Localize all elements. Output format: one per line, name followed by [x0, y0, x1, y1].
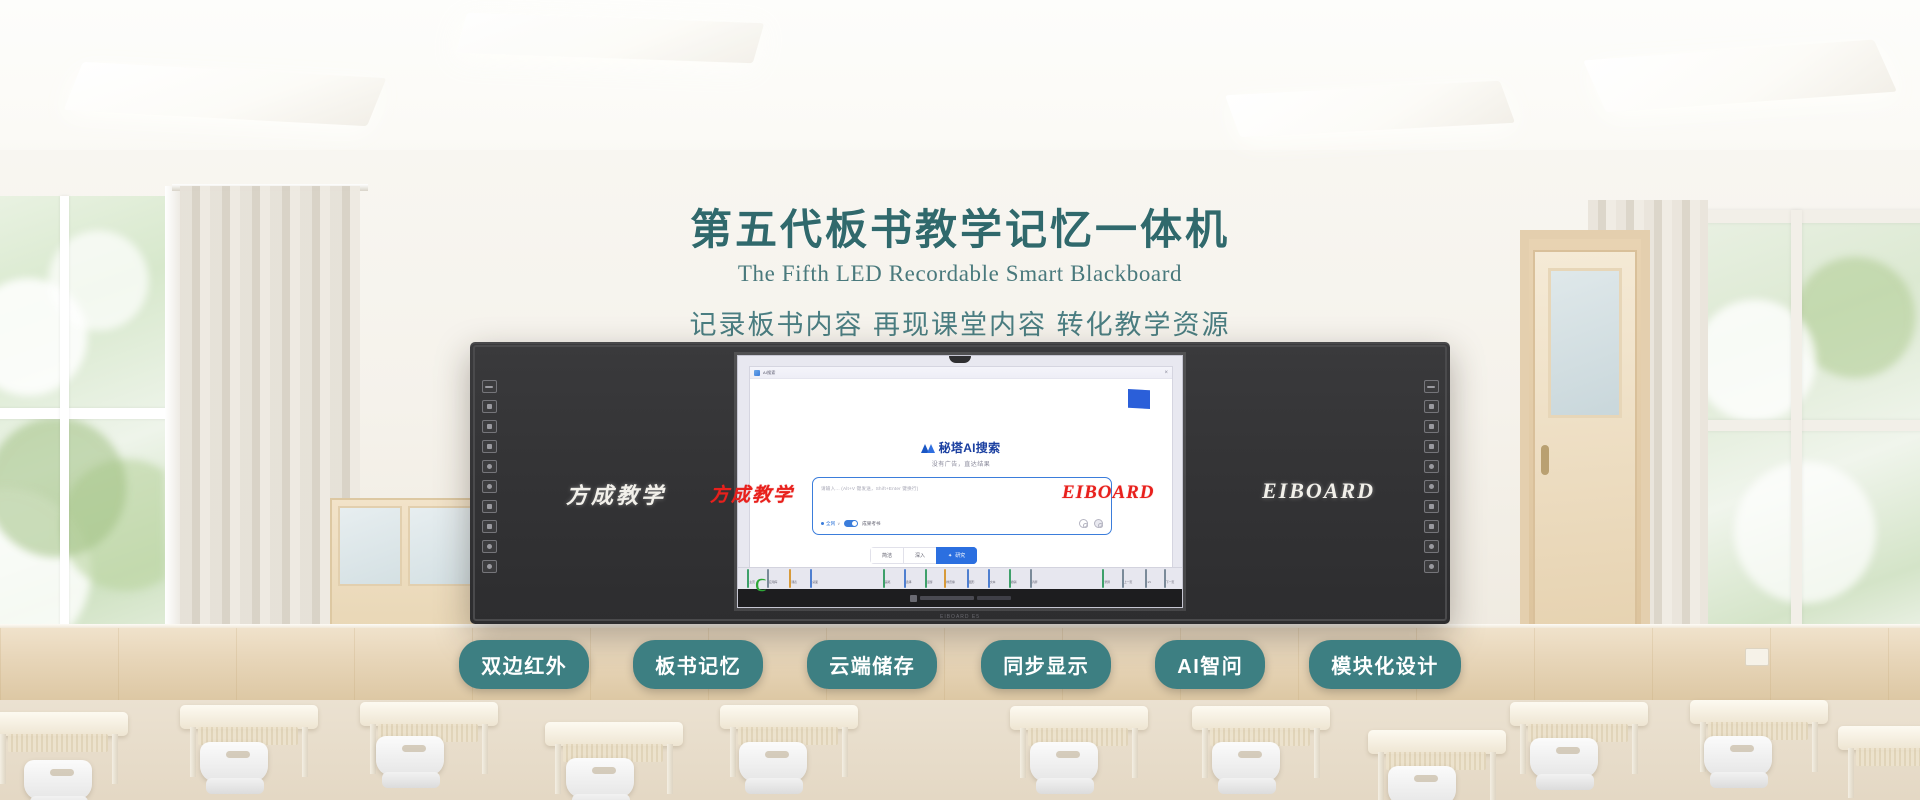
desk-surface	[0, 712, 128, 736]
toolbar-item-record[interactable]: 录屏	[1099, 570, 1113, 588]
desk-leg	[482, 724, 488, 774]
desk-surface	[720, 705, 858, 729]
page-icon	[1145, 569, 1147, 588]
hero-text-block: 第五代板书教学记忆一体机 The Fifth LED Recordable Sm…	[0, 196, 1920, 342]
chair-seat	[1536, 774, 1594, 790]
toolbar-label: 课表	[791, 580, 797, 584]
power-button-icon[interactable]	[1424, 560, 1439, 573]
student-chair	[1208, 742, 1284, 800]
record-icon	[1102, 569, 1104, 588]
chair-back	[1388, 766, 1456, 800]
ai-search-app-window[interactable]: AI搜索 × 秘塔AI搜索 没有广告，直达结果 请输入... (Alt+V 键发…	[749, 366, 1173, 578]
chair-seat	[1710, 772, 1768, 788]
shape-icon	[967, 569, 969, 588]
hand-icon	[925, 569, 927, 588]
desk-surface	[360, 702, 498, 726]
toolbar-item-page[interactable]: 1/1	[1141, 570, 1155, 588]
toolbar-item-schedule[interactable]: 课表	[786, 570, 800, 588]
mode-button-deep[interactable]: 深入	[903, 547, 936, 564]
display-toggle-icon[interactable]	[482, 380, 497, 393]
clear-icon	[1030, 569, 1032, 588]
pen-mode-icon[interactable]	[482, 400, 497, 413]
toolbar-label: 清屏	[1032, 580, 1038, 584]
stop-button-icon[interactable]	[482, 500, 497, 513]
right-control-strip[interactable]	[1421, 380, 1441, 573]
chair-seat	[1218, 778, 1276, 794]
feature-badge-infrared[interactable]: 双边红外	[459, 640, 589, 689]
chair-seat	[30, 796, 88, 800]
left-control-strip[interactable]	[479, 380, 499, 573]
chair-handle-slot	[402, 745, 426, 752]
student-chair	[372, 736, 448, 800]
toolbar-item-eraser[interactable]: 橡皮擦	[943, 570, 957, 588]
toolbar-item-clear[interactable]: 清屏	[1027, 570, 1041, 588]
desk-leg	[842, 727, 848, 777]
chair-handle-slot	[1556, 747, 1580, 754]
desk-surface	[1838, 726, 1920, 750]
page-mode-icon[interactable]	[482, 440, 497, 453]
student-chair	[196, 742, 272, 800]
desk-surface	[180, 705, 318, 729]
toolbar-label: 桌面	[812, 580, 818, 584]
prev-icon	[1122, 569, 1124, 588]
green-undo-stroke: ↄ	[755, 568, 767, 598]
desk-leg	[112, 734, 118, 784]
os-taskbar[interactable]	[738, 589, 1182, 607]
toolbar-item-desktop[interactable]: 桌面	[807, 570, 821, 588]
brand-header: 秘塔AI搜索	[750, 439, 1172, 456]
metaso-logo-icon	[922, 443, 935, 453]
screen-toolbar[interactable]: 主页 应用库 课表 桌面 画笔 选择	[738, 567, 1182, 589]
desk-leg	[1848, 748, 1854, 798]
chair-back	[566, 758, 634, 798]
search-scope-selector[interactable]: 全网 ∨	[821, 521, 840, 527]
toolbar-right-group[interactable]: 录屏 上一页 1/1 下一页	[1099, 570, 1176, 588]
chair-back	[376, 736, 444, 776]
eraser-icon	[944, 569, 946, 588]
desk-leg	[1314, 728, 1320, 778]
home-icon	[747, 569, 749, 588]
save-button-icon[interactable]	[1424, 520, 1439, 533]
settings-button-icon[interactable]	[482, 540, 497, 553]
page-tagline: 记录板书内容 再现课堂内容 转化教学资源	[0, 303, 1920, 342]
feature-badge-modular[interactable]: 模块化设计	[1309, 640, 1461, 689]
save-button-icon[interactable]	[482, 520, 497, 533]
deep-think-toggle[interactable]	[844, 520, 858, 527]
student-chair	[562, 758, 638, 800]
chair-back	[200, 742, 268, 782]
toolbar-item-next[interactable]: 下一页	[1162, 570, 1176, 588]
chair-back	[739, 742, 807, 782]
toolbar-label: 录屏	[1104, 580, 1110, 584]
capture-button-icon[interactable]	[482, 480, 497, 493]
toolbar-center-group[interactable]: 画笔 选择 漫游 橡皮擦 图形 文本	[880, 570, 1041, 588]
cabinet-glass-door	[408, 506, 472, 586]
chair-back	[24, 760, 92, 800]
chair-back	[1212, 742, 1280, 782]
apps-icon	[767, 569, 769, 588]
chair-handle-slot	[1238, 751, 1262, 758]
window-mullion	[0, 408, 172, 419]
toolbar-item-undo[interactable]: 撤销	[1006, 570, 1020, 588]
chair-seat	[572, 794, 630, 800]
chevron-down-icon[interactable]: ∨	[837, 521, 840, 526]
chair-handle-slot	[50, 769, 74, 776]
mode-button-research[interactable]: ✦ 研究	[936, 547, 977, 564]
page-subtitle-en: The Fifth LED Recordable Smart Blackboar…	[0, 261, 1920, 287]
desk-leg	[1812, 722, 1818, 772]
student-chair	[735, 742, 811, 800]
chair-handle-slot	[1730, 745, 1754, 752]
taskbar-window-strip[interactable]	[920, 596, 974, 600]
taskbar-tray-strip[interactable]	[977, 596, 1011, 600]
page-indicator: 1/1	[1147, 580, 1151, 584]
toolbar-item-text[interactable]: 文本	[985, 570, 999, 588]
toggle-label: 成果考书	[862, 521, 880, 527]
toolbar-label: 漫游	[927, 580, 933, 584]
mode-button-simple[interactable]: 简洁	[870, 547, 903, 564]
text-icon	[988, 569, 990, 588]
toolbar-label: 画笔	[885, 580, 891, 584]
blue-marker-shape	[1128, 389, 1150, 409]
eraser-mode-icon[interactable]	[482, 420, 497, 433]
eraser-mode-icon[interactable]	[1424, 420, 1439, 433]
toolbar-item-select[interactable]: 选择	[901, 570, 915, 588]
chalk-text-left: 方成教学	[566, 478, 666, 510]
toolbar-label: 撤销	[1011, 580, 1017, 584]
desk-surface	[1510, 702, 1648, 726]
camera-icon[interactable]	[1079, 519, 1088, 528]
student-chair	[1526, 738, 1602, 800]
scope-label: 全网	[826, 521, 835, 527]
toolbar-label: 应用库	[769, 580, 777, 584]
toolbar-item-roam[interactable]: 漫游	[922, 570, 936, 588]
student-chair	[20, 760, 96, 800]
select-icon	[904, 569, 906, 588]
brand-tagline: 没有广告，直达结果	[750, 459, 1172, 468]
desk-basket	[8, 734, 108, 752]
search-action-icons	[1079, 519, 1103, 528]
toolbar-item-shape[interactable]: 图形	[964, 570, 978, 588]
door-handle	[1541, 445, 1549, 475]
chair-seat	[206, 778, 264, 794]
search-options-row: 全网 ∨ 成果考书	[821, 519, 1103, 528]
taskbar-start-icon[interactable]	[910, 595, 917, 602]
undo-icon	[1009, 569, 1011, 588]
scope-dot-icon	[821, 522, 824, 525]
desk-leg	[0, 734, 6, 784]
next-icon	[1164, 569, 1166, 588]
app-window-title: AI搜索	[763, 370, 776, 376]
search-input-placeholder[interactable]: 请输入... (Alt+V 键发送，Shift+Enter 键换行)	[821, 486, 918, 492]
desk-surface	[545, 722, 683, 746]
feature-badge-memory[interactable]: 板书记忆	[633, 640, 763, 689]
record-button-icon[interactable]	[482, 460, 497, 473]
stop-button-icon[interactable]	[1424, 500, 1439, 513]
desk-leg	[1490, 752, 1496, 800]
handwriting-annotation-cn: 方成教学	[710, 480, 794, 507]
feature-badge-cloud[interactable]: 云端储存	[807, 640, 937, 689]
search-mode-button-group[interactable]: 简洁 深入 ✦ 研究	[870, 547, 977, 564]
desk-surface	[1192, 706, 1330, 730]
settings-button-icon[interactable]	[1424, 540, 1439, 553]
chair-back	[1530, 738, 1598, 778]
desk-surface	[1690, 700, 1828, 724]
record-button-icon[interactable]	[1424, 460, 1439, 473]
display-toggle-icon[interactable]	[1424, 380, 1439, 393]
page-title: 第五代板书教学记忆一体机	[0, 196, 1920, 257]
page-mode-icon[interactable]	[1424, 440, 1439, 453]
toolbar-item-apps[interactable]: 应用库	[765, 570, 779, 588]
feature-badge-ai[interactable]: AI智问	[1155, 640, 1265, 689]
board-model-label: EIBOARD E5	[940, 614, 980, 620]
desk-leg	[1132, 728, 1138, 778]
toolbar-item-pen[interactable]: 画笔	[880, 570, 894, 588]
handwriting-annotation-en: EIBOARD	[1062, 482, 1155, 504]
app-logo-icon	[754, 370, 760, 376]
chair-seat	[745, 778, 803, 794]
chair-back	[1704, 736, 1772, 776]
close-icon[interactable]: ×	[1164, 370, 1168, 376]
toolbar-item-prev[interactable]: 上一页	[1120, 570, 1134, 588]
desk-leg	[302, 727, 308, 777]
list-icon	[789, 569, 791, 588]
screen-notch	[949, 356, 971, 363]
chair-seat	[382, 772, 440, 788]
power-button-icon[interactable]	[482, 560, 497, 573]
toolbar-label: 上一页	[1124, 580, 1132, 584]
windows-icon	[810, 569, 812, 588]
desk-surface	[1368, 730, 1506, 754]
chair-seat	[1036, 778, 1094, 794]
send-icon[interactable]	[1094, 519, 1103, 528]
desk-leg	[555, 744, 561, 794]
desk-leg	[667, 744, 673, 794]
chair-back	[1030, 742, 1098, 782]
chair-handle-slot	[765, 751, 789, 758]
cabinet-glass-door	[338, 506, 402, 586]
student-chair	[1700, 736, 1776, 800]
desk-surface	[1010, 706, 1148, 730]
feature-badge-row: 双边红外 板书记忆 云端储存 同步显示 AI智问 模块化设计	[0, 640, 1920, 689]
sparkle-icon: ✦	[948, 553, 952, 559]
toolbar-label: 下一页	[1166, 580, 1174, 584]
app-titlebar: AI搜索 ×	[750, 367, 1172, 379]
toolbar-label: 主页	[749, 580, 755, 584]
chalk-text-right: EIBOARD	[1262, 478, 1375, 504]
brand-name: 秘塔AI搜索	[939, 439, 1001, 456]
student-chair	[1384, 766, 1460, 800]
capture-button-icon[interactable]	[1424, 480, 1439, 493]
chair-handle-slot	[592, 767, 616, 774]
feature-badge-sync[interactable]: 同步显示	[981, 640, 1111, 689]
toolbar-label: 文本	[990, 580, 996, 584]
desk-basket	[1856, 748, 1920, 766]
chair-handle-slot	[226, 751, 250, 758]
toolbar-label: 橡皮擦	[946, 580, 954, 584]
chair-handle-slot	[1056, 751, 1080, 758]
student-chair	[1026, 742, 1102, 800]
chair-handle-slot	[1414, 775, 1438, 782]
toolbar-label: 选择	[906, 580, 912, 584]
toolbar-label: 图形	[969, 580, 975, 584]
pen-icon	[883, 569, 885, 588]
mode-button-research-label: 研究	[955, 552, 965, 559]
desk-leg	[1632, 724, 1638, 774]
pen-mode-icon[interactable]	[1424, 400, 1439, 413]
